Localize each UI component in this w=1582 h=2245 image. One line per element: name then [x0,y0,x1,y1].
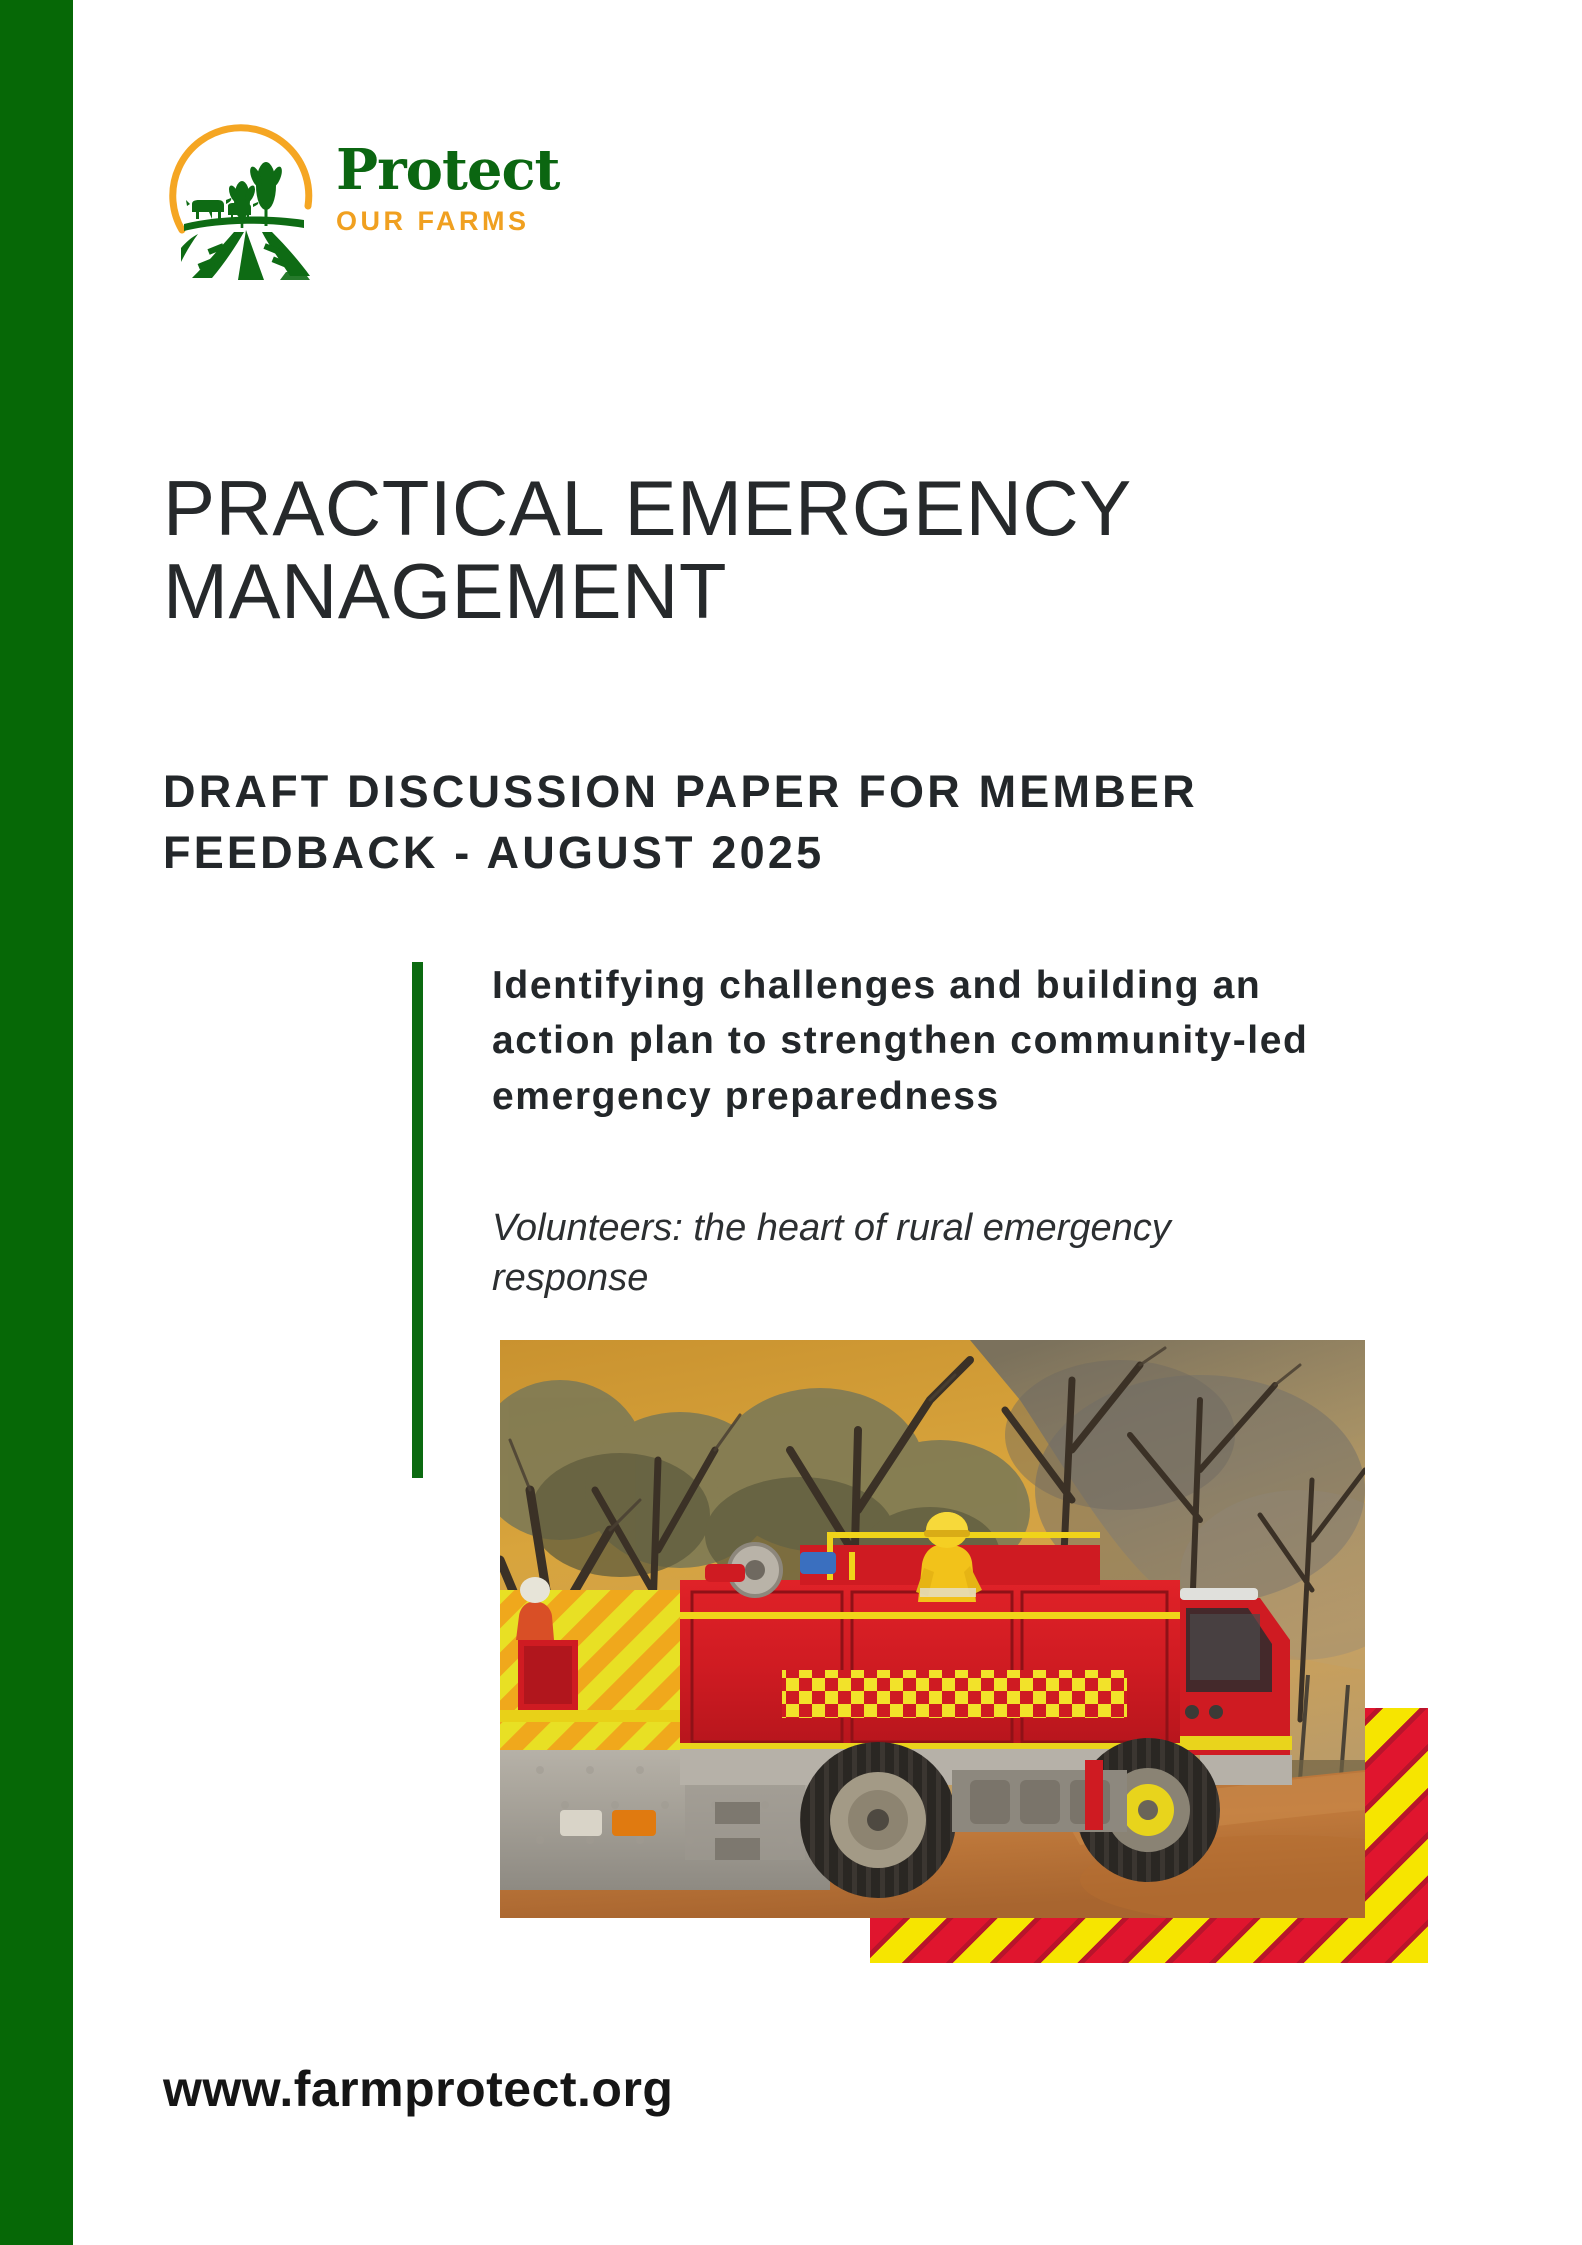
logo-name-primary: Protect [336,142,559,198]
farm-sun-icon [168,120,328,280]
logo-wordmark: Protect OUR FARMS [336,142,559,235]
green-accent-bar [412,962,423,1478]
document-title: PRACTICAL EMERGENCY MANAGEMENT [163,467,1283,632]
logo-name-secondary: OUR FARMS [336,208,559,235]
lead-statement: Identifying challenges and building an a… [492,958,1322,1124]
photo-caption: Volunteers: the heart of rural emergency… [492,1203,1252,1303]
chevron-stripe-bottom [870,1918,1428,1963]
cover-photo [500,1340,1365,1918]
left-green-band [0,0,73,2245]
footer-website-url[interactable]: www.farmprotect.org [163,2060,673,2118]
document-subtitle: DRAFT DISCUSSION PAPER FOR MEMBER FEEDBA… [163,762,1463,884]
organisation-logo: Protect OUR FARMS [168,120,513,280]
